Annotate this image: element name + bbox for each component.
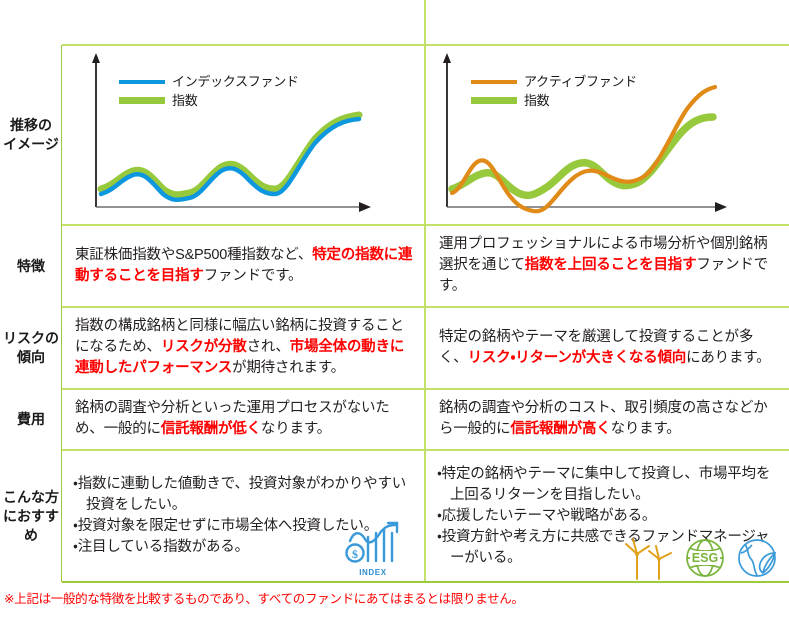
table-row: 指数の構成銘柄と同様に幅広い銘柄に投資することになるため、リスクが分散され、市場… — [62, 307, 789, 389]
chart-cell-active: アクティブファンド 指数 — [425, 45, 789, 225]
cost-text-index: 銘柄の調査や分析といった運用プロセスがないため、一般的に信託報酬が低くなります。 — [63, 391, 423, 448]
list-item: ・応援したいテーマや戦略がある。 — [437, 506, 780, 527]
row-label-text: 特徴 — [17, 257, 45, 276]
highlighted-phrase: 指数を上回ることを目指す — [525, 257, 697, 273]
risk-text-index: 指数の構成銘柄と同様に幅広い銘柄に投資することになるため、リスクが分散され、市場… — [63, 309, 423, 387]
legend-item: 指数 — [471, 92, 637, 109]
list-item: ・特定の銘柄やテーマに集中して投資し、市場平均を上回るリターンを目指したい。 — [437, 464, 780, 506]
legend-label-index: 指数 — [524, 92, 549, 109]
esg-text: ESG — [692, 551, 718, 565]
y-axis-arrow — [92, 53, 100, 63]
legend-item: アクティブファンド — [471, 73, 637, 90]
features-text-active: 運用プロフェッショナルによる市場分析や個別銘柄選択を通じて指数を上回ることを目指… — [427, 227, 788, 305]
comparison-infographic: 推移の イメージ 特徴 リスクの 傾向 費用 こんな方 におすすめ インデックス… — [0, 0, 789, 633]
dollar-glyph: $ — [352, 547, 358, 561]
row-label-features: 特徴 — [0, 225, 62, 307]
index-chart-icon-svg: $ — [342, 519, 404, 565]
legend-swatch-active-fund — [471, 80, 517, 84]
row-label-line1: リスクの — [3, 330, 59, 346]
legend-label-index-fund: インデックスファンド — [172, 73, 299, 90]
fund-comparison-table: インデックスファンド アクティブファンド — [62, 0, 789, 583]
index-chart: インデックスファンド 指数 — [63, 47, 423, 223]
legend-item: インデックスファンド — [119, 73, 299, 90]
table-row: ・指数に連動した値動きで、投資対象がわかりやすい投資をしたい。・投資対象を限定せ… — [62, 450, 789, 582]
row-label-line1: こんな方 — [3, 489, 59, 505]
cost-cell-index: 銘柄の調査や分析といった運用プロセスがないため、一般的に信託報酬が低くなります。 — [62, 389, 425, 450]
row-label-cost: 費用 — [0, 389, 62, 450]
plain-phrase: にあります。 — [686, 350, 770, 366]
index-chart-legend: インデックスファンド 指数 — [119, 73, 299, 111]
recommended-cell-index: ・指数に連動した値動きで、投資対象がわかりやすい投資をしたい。・投資対象を限定せ… — [62, 450, 425, 582]
row-label-line2: 傾向 — [17, 349, 45, 365]
table-row: 銘柄の調査や分析といった運用プロセスがないため、一般的に信託報酬が低くなります。… — [62, 389, 789, 450]
plain-phrase: なります。 — [261, 421, 331, 437]
row-label-transition: 推移の イメージ — [0, 45, 62, 225]
active-chart-legend: アクティブファンド 指数 — [471, 73, 637, 111]
esg-globe-icon: ESG — [680, 535, 730, 581]
risk-cell-active: 特定の銘柄やテーマを厳選して投資することが多く、リスク・リターンが大きくなる傾向… — [425, 307, 789, 389]
plain-phrase: ファンドです。 — [204, 268, 303, 284]
features-cell-active: 運用プロフェッショナルによる市場分析や個別銘柄選択を通じて指数を上回ることを目指… — [425, 225, 789, 307]
highlighted-phrase: リスクが分散 — [161, 339, 247, 355]
plain-phrase: され、 — [247, 339, 290, 355]
turbine-hub — [635, 552, 639, 556]
turbine-hub — [657, 557, 661, 561]
legend-swatch-index — [471, 97, 517, 104]
earth-leaf-icon — [733, 535, 783, 581]
features-cell-index: 東証株価指数やS&P500種指数など、特定の指数に連動することを目指すファンドで… — [62, 225, 425, 307]
cost-text-active: 銘柄の調査や分析のコスト、取引頻度の高さなどから一般的に信託報酬が高くなります。 — [427, 391, 788, 448]
list-item: ・指数に連動した値動きで、投資対象がわかりやすい投資をしたい。 — [73, 474, 415, 516]
plain-phrase: なります。 — [611, 421, 681, 437]
footnote: ※上記は一般的な特徴を比較するものであり、すべてのファンドにあてはまるとは限りま… — [4, 588, 524, 607]
header-active-fund: アクティブファンド — [425, 0, 789, 45]
legend-label-active-fund: アクティブファンド — [524, 73, 637, 90]
header-index-fund: インデックスファンド — [62, 0, 425, 45]
plain-phrase: が期待されます。 — [232, 360, 345, 376]
row-label-risk: リスクの 傾向 — [0, 307, 62, 389]
legend-swatch-index — [119, 97, 165, 104]
x-axis-arrow — [715, 202, 727, 212]
table-row: インデックスファンド 指数 — [62, 45, 789, 225]
chart-cell-index: インデックスファンド 指数 — [62, 45, 425, 225]
table-row: 東証株価指数やS&P500種指数など、特定の指数に連動することを目指すファンドで… — [62, 225, 789, 307]
highlighted-phrase: 信託報酬が低く — [161, 421, 261, 437]
x-axis-arrow — [359, 202, 371, 212]
row-label-line2: イメージ — [3, 136, 59, 152]
legend-item: 指数 — [119, 92, 299, 109]
legend-label-index: 指数 — [172, 92, 197, 109]
index-icon-label: INDEX — [336, 568, 410, 577]
row-label-line1: 推移の — [10, 117, 52, 133]
row-label-text: 費用 — [17, 410, 45, 429]
risk-text-active: 特定の銘柄やテーマを厳選して投資することが多く、リスク・リターンが大きくなる傾向… — [427, 320, 788, 377]
highlighted-phrase: リスク・リターンが大きくなる傾向 — [468, 350, 687, 366]
theme-icon-group: ESG — [621, 535, 783, 581]
highlighted-phrase: 信託報酬が高く — [510, 421, 610, 437]
active-chart: アクティブファンド 指数 — [427, 47, 788, 223]
series-index-line — [101, 115, 359, 195]
row-label-recommended: こんな方 におすすめ — [0, 450, 62, 582]
row-label-line2: におすすめ — [3, 508, 59, 543]
y-axis-arrow — [443, 53, 451, 63]
index-chart-icon: $ INDEX — [336, 519, 410, 577]
legend-swatch-index-fund — [119, 80, 165, 84]
recommended-cell-active: ・特定の銘柄やテーマに集中して投資し、市場平均を上回るリターンを目指したい。・応… — [425, 450, 789, 582]
plain-phrase: 東証株価指数やS&P500種指数など、 — [75, 247, 312, 263]
wind-turbine-icon — [621, 537, 677, 581]
risk-cell-index: 指数の構成銘柄と同様に幅広い銘柄に投資することになるため、リスクが分散され、市場… — [62, 307, 425, 389]
features-text-index: 東証株価指数やS&P500種指数など、特定の指数に連動することを目指すファンドで… — [63, 238, 423, 295]
table-header-row: インデックスファンド アクティブファンド — [62, 0, 789, 45]
cost-cell-active: 銘柄の調査や分析のコスト、取引頻度の高さなどから一般的に信託報酬が高くなります。 — [425, 389, 789, 450]
